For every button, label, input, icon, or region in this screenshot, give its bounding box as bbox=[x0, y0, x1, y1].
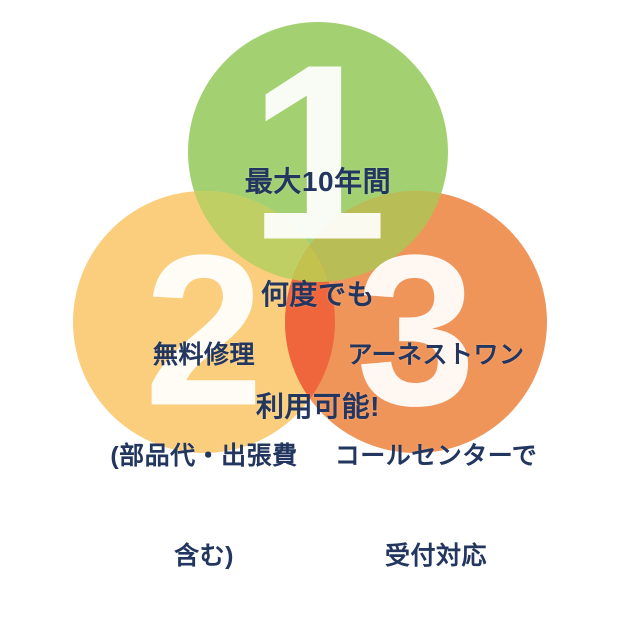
circle-orange-label-line-3: 受付対応 bbox=[300, 540, 572, 574]
circle-green-label-line-1: 最大10年間 bbox=[168, 163, 468, 201]
circle-orange-label-line-1: アーネストワン bbox=[300, 339, 572, 373]
circle-orange-label: アーネストワン コールセンターで 受付対応 bbox=[300, 272, 572, 641]
venn-diagram-graphic: 1 2 3 最大10年間 何度でも 利用可能! 無料修理 (部品代・出張費 含む… bbox=[0, 0, 620, 495]
circle-orange-label-line-2: コールセンターで bbox=[300, 440, 572, 474]
